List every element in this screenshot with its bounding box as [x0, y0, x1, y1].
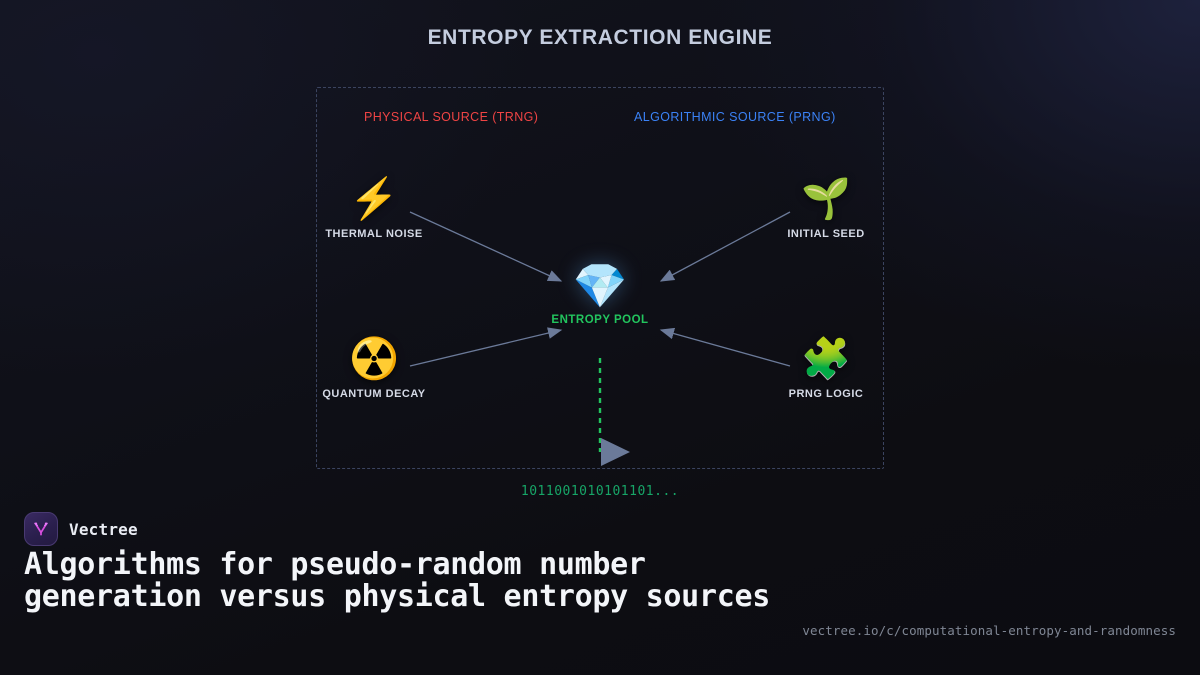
node-label: PRNG LOGIC: [766, 388, 886, 400]
headline: Algorithms for pseudo-random number gene…: [24, 549, 784, 613]
poster-canvas: ENTROPY EXTRACTION ENGINE PHYSICAL SOURC…: [0, 0, 1200, 675]
page-title: ENTROPY EXTRACTION ENGINE: [0, 26, 1200, 50]
tree-glyph-icon: [31, 519, 51, 539]
brand: Vectree: [24, 512, 138, 546]
source-url: vectree.io/c/computational-entropy-and-r…: [802, 623, 1176, 638]
node-label: INITIAL SEED: [766, 228, 886, 240]
column-label-physical-source: PHYSICAL SOURCE (TRNG): [364, 110, 538, 124]
lightning-bolt-icon: ⚡: [314, 176, 434, 222]
brand-name: Vectree: [69, 520, 138, 539]
node-entropy-pool[interactable]: 💎 ENTROPY POOL: [540, 262, 660, 326]
entropy-pool-label: ENTROPY POOL: [540, 314, 660, 326]
node-label: QUANTUM DECAY: [314, 388, 434, 400]
puzzle-piece-icon: 🧩: [766, 336, 886, 382]
column-label-algorithmic-source: ALGORITHMIC SOURCE (PRNG): [634, 110, 836, 124]
node-quantum-decay[interactable]: ☢️ QUANTUM DECAY: [314, 336, 434, 400]
seedling-icon: 🌱: [766, 176, 886, 222]
node-thermal-noise[interactable]: ⚡ THERMAL NOISE: [314, 176, 434, 240]
node-prng-logic[interactable]: 🧩 PRNG LOGIC: [766, 336, 886, 400]
output-bitstream: 1011001010101101...: [0, 484, 1200, 499]
node-label: THERMAL NOISE: [314, 228, 434, 240]
gem-icon: 💎: [540, 262, 660, 312]
node-initial-seed[interactable]: 🌱 INITIAL SEED: [766, 176, 886, 240]
vectree-logo-icon: [24, 512, 58, 546]
radioactive-icon: ☢️: [314, 336, 434, 382]
